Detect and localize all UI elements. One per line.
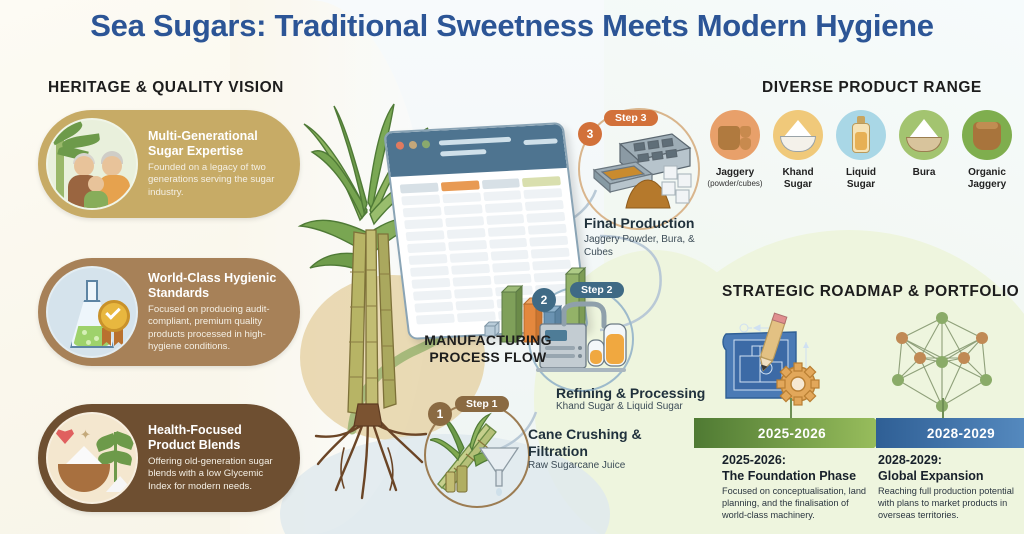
step-2-subtitle: Khand Sugar & Liquid Sugar — [556, 401, 716, 414]
manufacturing-process-flow-label: MANUFACTURING PROCESS FLOW — [424, 332, 552, 366]
khand-bowl-icon — [773, 110, 823, 160]
product-item-liquid-sugar[interactable]: Liquid Sugar — [832, 110, 890, 191]
bura-bowl-icon — [899, 110, 949, 160]
product-name: Bura — [895, 167, 953, 179]
heritage-card-title: World-Class Hygienic Standards — [148, 271, 288, 301]
heritage-card-multi-generational[interactable]: Multi-Generational Sugar Expertise Found… — [38, 110, 300, 218]
roadmap-phase-global-expansion: 2028-2029: Global Expansion Reaching ful… — [878, 453, 1024, 522]
organic-jaggery-icon — [962, 110, 1012, 160]
heritage-card-hygienic-standards[interactable]: World-Class Hygienic Standards Focused o… — [38, 258, 300, 366]
heritage-card-desc: Focused on producing audit-compliant, pr… — [148, 304, 288, 353]
heritage-card-title: Multi-Generational Sugar Expertise — [148, 129, 288, 159]
jaggery-blocks-icon — [710, 110, 760, 160]
product-item-organic-jaggery[interactable]: Organic Jaggery — [958, 110, 1016, 191]
product-name: Organic Jaggery — [958, 167, 1016, 191]
sugarcane-family-icon — [46, 118, 138, 210]
step-2-badge: Step 2 — [570, 282, 624, 298]
sugar-bowl-leaf-icon: ✦ — [46, 412, 138, 504]
product-item-khand-sugar[interactable]: Khand Sugar — [769, 110, 827, 191]
product-name: Jaggery — [706, 167, 764, 179]
page-title: Sea Sugars: Traditional Sweetness Meets … — [0, 8, 1024, 44]
product-range-list: Jaggery (powder/cubes) Khand Sugar Liqui… — [706, 110, 1016, 191]
roadmap-phase-foundation: 2025-2026: The Foundation Phase Focused … — [722, 453, 872, 522]
roadmap-phase-year: 2025-2026: — [722, 453, 872, 469]
heritage-section-heading: HERITAGE & QUALITY VISION — [48, 79, 284, 97]
product-name: Liquid Sugar — [832, 167, 890, 191]
step-3-number: 3 — [578, 122, 602, 146]
product-name: Khand Sugar — [769, 167, 827, 191]
heritage-card-health-focused[interactable]: ✦ Health-Focused Product Blends Offering… — [38, 404, 300, 512]
roadmap-arrow-2025-2026[interactable]: 2025-2026 — [694, 418, 890, 448]
roadmap-phase-desc: Focused on conceptualisation, land plann… — [722, 486, 872, 522]
product-item-jaggery[interactable]: Jaggery (powder/cubes) — [706, 110, 764, 191]
infographic-canvas: Sea Sugars: Traditional Sweetness Meets … — [0, 0, 1024, 534]
roadmap-phase-name: Global Expansion — [878, 469, 1024, 485]
products-section-heading: DIVERSE PRODUCT RANGE — [762, 79, 982, 97]
roadmap-phase-name: The Foundation Phase — [722, 469, 872, 485]
roadmap-arrow-2028-2029[interactable]: 2028-2029 — [876, 418, 1024, 448]
step-3-title: Final Production — [584, 215, 734, 232]
step-2-title: Refining & Processing — [556, 385, 706, 402]
step-3-badge: Step 3 — [604, 110, 658, 126]
sugar-cube-tray-icon — [590, 122, 694, 214]
step-2-number: 2 — [532, 288, 556, 312]
flask-certification-icon — [46, 266, 138, 358]
product-sub: (powder/cubes) — [706, 179, 764, 188]
roadmap-phase-year: 2028-2029: — [878, 453, 1024, 469]
step-1-number: 1 — [428, 402, 452, 426]
roadmap-stem-2 — [942, 398, 944, 420]
blueprint-gear-icon — [718, 312, 838, 412]
step-1-title: Cane Crushing & Filtration — [528, 426, 668, 460]
heritage-card-desc: Founded on a legacy of two generations s… — [148, 162, 288, 199]
syrup-bottle-icon — [836, 110, 886, 160]
step-3-subtitle: Jaggery Powder, Bura, & Cubes — [584, 234, 714, 259]
roadmap-phase-desc: Reaching full production potential with … — [878, 486, 1024, 522]
step-1-subtitle: Raw Sugarcane Juice — [528, 460, 638, 473]
product-item-bura[interactable]: Bura — [895, 110, 953, 191]
roadmap-stem-1 — [790, 398, 792, 420]
roadmap-section-heading: STRATEGIC ROADMAP & PORTFOLIO — [722, 283, 1019, 301]
step-1-badge: Step 1 — [455, 396, 509, 412]
heritage-card-title: Health-Focused Product Blends — [148, 423, 288, 453]
heritage-card-desc: Offering old-generation sugar blends wit… — [148, 456, 288, 493]
sugarcane-funnel-icon — [430, 412, 526, 500]
